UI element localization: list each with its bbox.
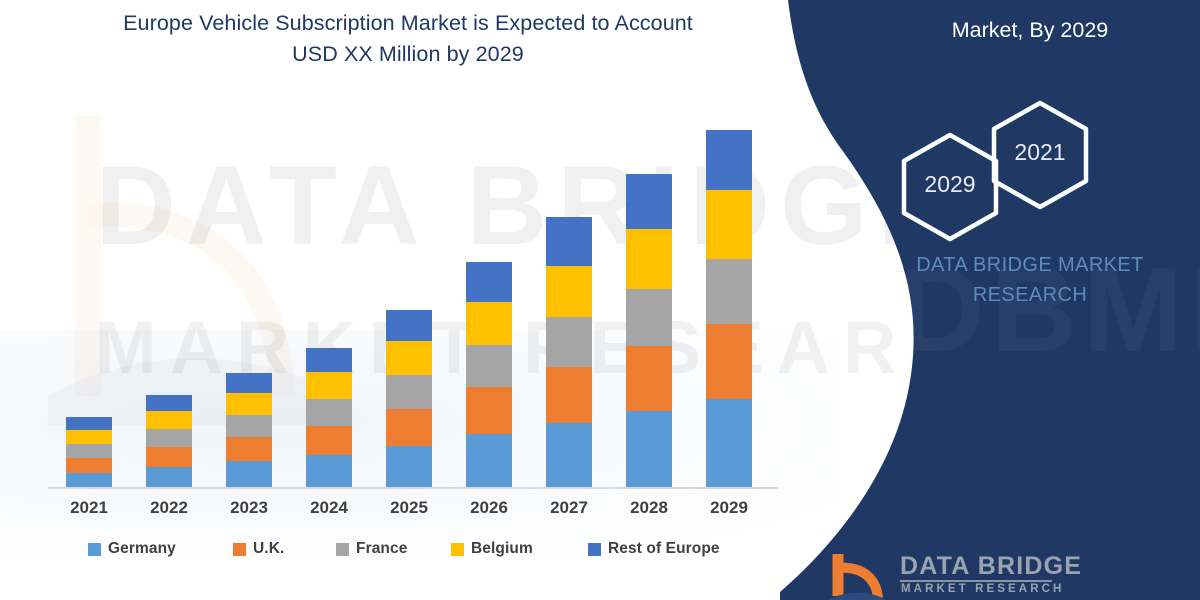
legend-item-germany[interactable]: Germany [88, 540, 176, 558]
bar-segment-germany [306, 455, 352, 487]
bar-segment-belgium [306, 372, 352, 399]
bar-segment-u-k [626, 346, 672, 411]
bar-segment-rest-of-europe [306, 348, 352, 372]
brand-name-line2: RESEARCH [973, 284, 1087, 306]
legend-item-rest-of-europe[interactable]: Rest of Europe [588, 540, 720, 558]
bar-segment-belgium [626, 229, 672, 289]
hexagon-2021-label: 2021 [994, 139, 1086, 166]
stacked-bar-chart: 202120222023202420252026202720282029 Ger… [0, 0, 800, 600]
x-axis-label-2025: 2025 [369, 498, 449, 518]
brand-panel-title: Market, By 2029 [870, 0, 1190, 46]
bar-segment-u-k [226, 437, 272, 461]
bar-segment-france [546, 317, 592, 367]
bar-segment-france [466, 345, 512, 387]
stacked-bar [386, 310, 432, 487]
bar-segment-germany [706, 399, 752, 487]
stacked-bar [706, 130, 752, 487]
x-axis-label-2028: 2028 [609, 498, 689, 518]
brand-panel: DBMR Market, By 2029 2021 2029 DATA BRID… [780, 0, 1200, 600]
legend-swatch-icon [588, 543, 601, 556]
x-axis-label-2027: 2027 [529, 498, 609, 518]
stacked-bar [226, 373, 272, 487]
legend-item-france[interactable]: France [336, 540, 407, 558]
bar-segment-germany [626, 411, 672, 487]
legend-label: Belgium [471, 540, 533, 558]
legend-item-belgium[interactable]: Belgium [451, 540, 533, 558]
x-axis-labels: 202120222023202420252026202720282029 [0, 498, 800, 524]
bar-group-2021 [66, 0, 112, 487]
bar-segment-germany [466, 434, 512, 487]
logo-bridge-icon [828, 552, 892, 600]
x-axis-label-2022: 2022 [129, 498, 209, 518]
stacked-bar [146, 395, 192, 487]
logo-divider [900, 580, 1052, 582]
brand-panel-name: DATA BRIDGE MARKET RESEARCH [875, 250, 1185, 310]
bar-segment-france [226, 415, 272, 437]
legend-swatch-icon [336, 543, 349, 556]
bar-segment-belgium [386, 341, 432, 375]
bar-segment-france [306, 399, 352, 426]
bar-segment-germany [546, 423, 592, 487]
stacked-bar [66, 417, 112, 487]
bar-segment-germany [226, 461, 272, 487]
bar-group-2025 [386, 0, 432, 487]
bar-segment-france [66, 444, 112, 458]
bar-segment-belgium [66, 430, 112, 444]
hexagon-group: 2021 2029 [890, 95, 1120, 245]
stacked-bar [306, 348, 352, 487]
bar-segment-belgium [706, 190, 752, 259]
bar-group-2027 [546, 0, 592, 487]
bar-segment-belgium [466, 302, 512, 345]
x-axis-label-2024: 2024 [289, 498, 369, 518]
bar-segment-u-k [466, 387, 512, 434]
bar-segment-u-k [386, 409, 432, 446]
bar-segment-france [706, 259, 752, 324]
bar-segment-u-k [546, 367, 592, 423]
logo-subtitle: MARKET RESEARCH [901, 583, 1064, 595]
bar-segment-belgium [146, 411, 192, 429]
legend-item-u-k[interactable]: U.K. [233, 540, 284, 558]
bar-group-2023 [226, 0, 272, 487]
logo-name: DATA BRIDGE [900, 553, 1082, 580]
bar-segment-france [146, 429, 192, 447]
stacked-bar [546, 217, 592, 487]
bars-layer [0, 0, 800, 487]
bar-segment-rest-of-europe [66, 417, 112, 430]
bar-segment-rest-of-europe [386, 310, 432, 341]
bar-group-2026 [466, 0, 512, 487]
bar-segment-germany [386, 446, 432, 487]
brand-panel-title-line2: Market, By 2029 [952, 18, 1109, 42]
x-axis-label-2026: 2026 [449, 498, 529, 518]
bar-segment-u-k [306, 426, 352, 455]
chart-legend: GermanyU.K.FranceBelgiumRest of Europe [88, 540, 768, 566]
stacked-bar [626, 174, 672, 487]
brand-name-line1: DATA BRIDGE MARKET [916, 254, 1144, 276]
bar-segment-france [386, 375, 432, 409]
x-axis-line [48, 487, 778, 489]
bar-segment-u-k [706, 324, 752, 399]
bar-segment-germany [146, 467, 192, 487]
x-axis-label-2021: 2021 [49, 498, 129, 518]
bar-segment-belgium [226, 393, 272, 415]
bar-segment-germany [66, 473, 112, 487]
bar-segment-belgium [546, 266, 592, 317]
bar-group-2028 [626, 0, 672, 487]
bar-segment-rest-of-europe [626, 174, 672, 229]
bar-segment-rest-of-europe [706, 130, 752, 190]
legend-label: Rest of Europe [608, 540, 720, 558]
legend-swatch-icon [88, 543, 101, 556]
legend-label: Germany [108, 540, 176, 558]
bar-segment-rest-of-europe [146, 395, 192, 411]
hexagon-2029-label: 2029 [904, 171, 996, 198]
bar-segment-rest-of-europe [226, 373, 272, 393]
legend-swatch-icon [451, 543, 464, 556]
x-axis-label-2023: 2023 [209, 498, 289, 518]
bar-segment-rest-of-europe [546, 217, 592, 266]
bar-segment-u-k [66, 458, 112, 473]
bar-group-2024 [306, 0, 352, 487]
x-axis-label-2029: 2029 [689, 498, 769, 518]
bar-segment-france [626, 289, 672, 346]
stacked-bar [466, 262, 512, 487]
legend-label: U.K. [253, 540, 284, 558]
legend-label: France [356, 540, 407, 558]
bar-segment-rest-of-europe [466, 262, 512, 302]
bar-group-2029 [706, 0, 752, 487]
bar-group-2022 [146, 0, 192, 487]
company-logo: DATA BRIDGE MARKET RESEARCH [828, 550, 1088, 600]
bar-segment-u-k [146, 447, 192, 467]
infographic-page: DATA BRIDGE MARKET RESEARCH Europe Vehic… [0, 0, 1200, 600]
legend-swatch-icon [233, 543, 246, 556]
